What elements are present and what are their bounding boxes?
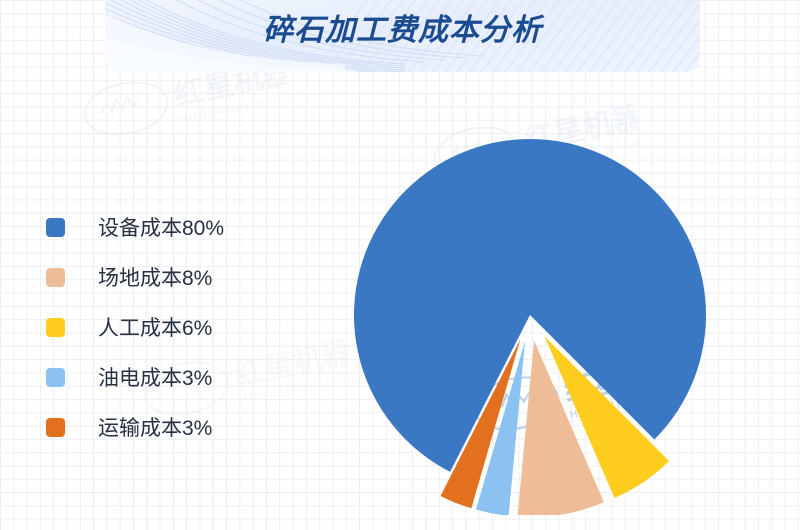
legend-label: 人工成本6% (98, 312, 212, 342)
page-title: 碎石加工费成本分析 (105, 8, 700, 54)
chart-canvas: 红星机器 HONGXING MACHINERY 红星机器 HONGXING MA… (0, 0, 800, 530)
legend-swatch-fuel (46, 368, 65, 387)
legend-swatch-transport (46, 418, 65, 437)
legend-item[interactable]: 设备成本80% (46, 202, 296, 252)
legend-item[interactable]: 运输成本3% (46, 402, 296, 452)
pie-chart-svg (330, 115, 730, 515)
legend-swatch-equipment (46, 218, 65, 237)
legend-label: 油电成本3% (98, 362, 212, 392)
chart-legend: 设备成本80% 场地成本8% 人工成本6% 油电成本3% 运输成本3% (46, 202, 296, 452)
legend-swatch-site (46, 268, 65, 287)
legend-label: 场地成本8% (98, 262, 212, 292)
legend-item[interactable]: 场地成本8% (46, 252, 296, 302)
legend-label: 设备成本80% (98, 212, 224, 242)
legend-swatch-labor (46, 318, 65, 337)
legend-item[interactable]: 人工成本6% (46, 302, 296, 352)
legend-item[interactable]: 油电成本3% (46, 352, 296, 402)
svg-text:HONGXING MACHINERY: HONGXING MACHINERY (179, 82, 296, 126)
legend-label: 运输成本3% (98, 412, 212, 442)
pie-chart (330, 115, 730, 515)
title-banner: 碎石加工费成本分析 (105, 0, 700, 72)
